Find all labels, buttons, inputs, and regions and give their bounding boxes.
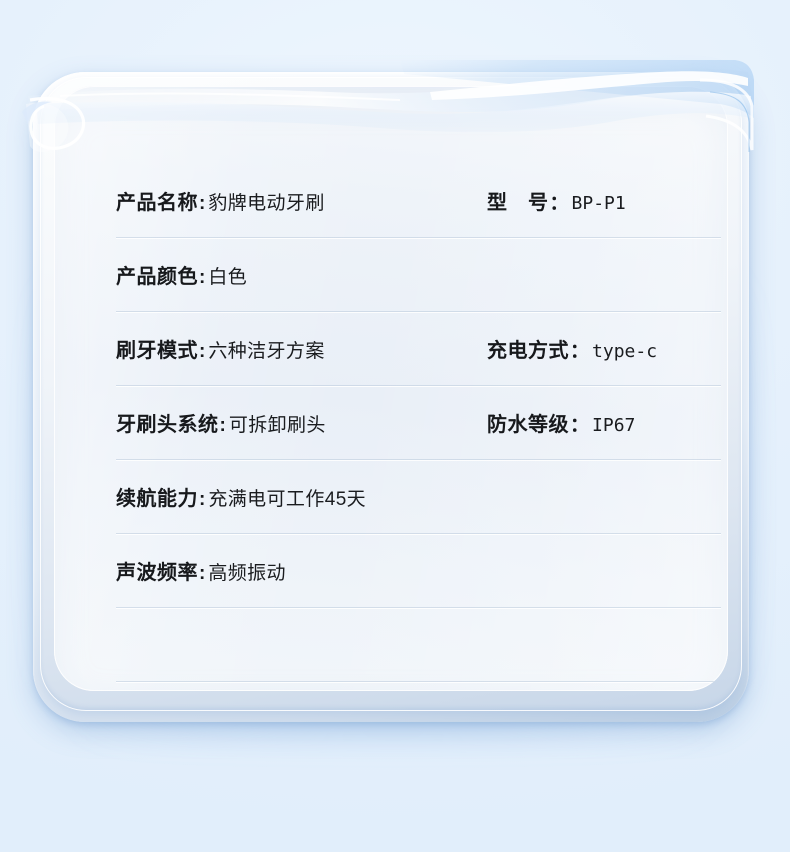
spec-row-empty [116, 608, 721, 682]
spec-separator: : [198, 489, 206, 511]
spec-value: 可拆卸刷头 [227, 410, 326, 437]
spec-separator: ： [569, 336, 590, 363]
spec-value: 豹牌电动牙刷 [206, 188, 324, 215]
spec-label: 产品颜色 [116, 260, 198, 289]
spec-separator: : [198, 267, 206, 289]
spec-value: 白色 [206, 262, 247, 289]
spec-separator: ： [549, 188, 570, 215]
spec-label: 防水等级 [487, 408, 569, 437]
spec-label: 充电方式 [487, 334, 569, 363]
spec-cell: 声波频率 : 高频振动 [116, 556, 286, 585]
spec-row: 声波频率 : 高频振动 [116, 534, 721, 608]
spec-cell: 刷牙模式 : 六种洁牙方案 [116, 334, 325, 363]
spec-value: 高频振动 [206, 558, 286, 585]
spec-row: 续航能力 : 充满电可工作45天 [116, 460, 721, 534]
spec-row: 产品名称 : 豹牌电动牙刷 型 号 ： BP-P1 [116, 164, 721, 238]
spec-separator: ： [569, 410, 590, 437]
spec-row: 刷牙模式 : 六种洁牙方案 充电方式 ： type-c [116, 312, 721, 386]
spec-value: type-c [590, 341, 657, 362]
card-face: 产品名称 : 豹牌电动牙刷 型 号 ： BP-P1 产品颜色 [54, 86, 728, 691]
spec-separator: : [219, 415, 227, 437]
spec-separator: : [198, 563, 206, 585]
spec-value: 六种洁牙方案 [206, 336, 324, 363]
spec-value: 充满电可工作45天 [206, 484, 366, 511]
spec-cell: 产品颜色 : 白色 [116, 260, 247, 289]
spec-cell: 产品名称 : 豹牌电动牙刷 [116, 186, 325, 215]
spec-cell: 型 号 ： BP-P1 [487, 186, 626, 215]
page-background: 产品名称 : 豹牌电动牙刷 型 号 ： BP-P1 产品颜色 [0, 0, 790, 852]
spec-value: IP67 [590, 415, 635, 436]
card-rim: 产品名称 : 豹牌电动牙刷 型 号 ： BP-P1 产品颜色 [40, 77, 742, 711]
spec-label: 产品名称 [116, 186, 198, 215]
spec-label: 牙刷头系统 [116, 408, 219, 437]
spec-separator: : [198, 341, 206, 363]
spec-row-empty [116, 682, 721, 691]
spec-label: 续航能力 [116, 482, 198, 511]
spec-row: 产品颜色 : 白色 [116, 238, 721, 312]
spec-cell: 充电方式 ： type-c [487, 334, 657, 363]
spec-separator: : [198, 193, 206, 215]
spec-label: 刷牙模式 [116, 334, 198, 363]
spec-label: 声波频率 [116, 556, 198, 585]
spec-table: 产品名称 : 豹牌电动牙刷 型 号 ： BP-P1 产品颜色 [116, 164, 721, 691]
spec-label: 型 号 [487, 186, 549, 215]
spec-cell: 防水等级 ： IP67 [487, 408, 635, 437]
spec-value: BP-P1 [570, 193, 626, 214]
spec-cell: 续航能力 : 充满电可工作45天 [116, 482, 366, 511]
product-spec-card: 产品名称 : 豹牌电动牙刷 型 号 ： BP-P1 产品颜色 [33, 72, 749, 722]
spec-cell: 牙刷头系统 : 可拆卸刷头 [116, 408, 326, 437]
spec-row: 牙刷头系统 : 可拆卸刷头 防水等级 ： IP67 [116, 386, 721, 460]
